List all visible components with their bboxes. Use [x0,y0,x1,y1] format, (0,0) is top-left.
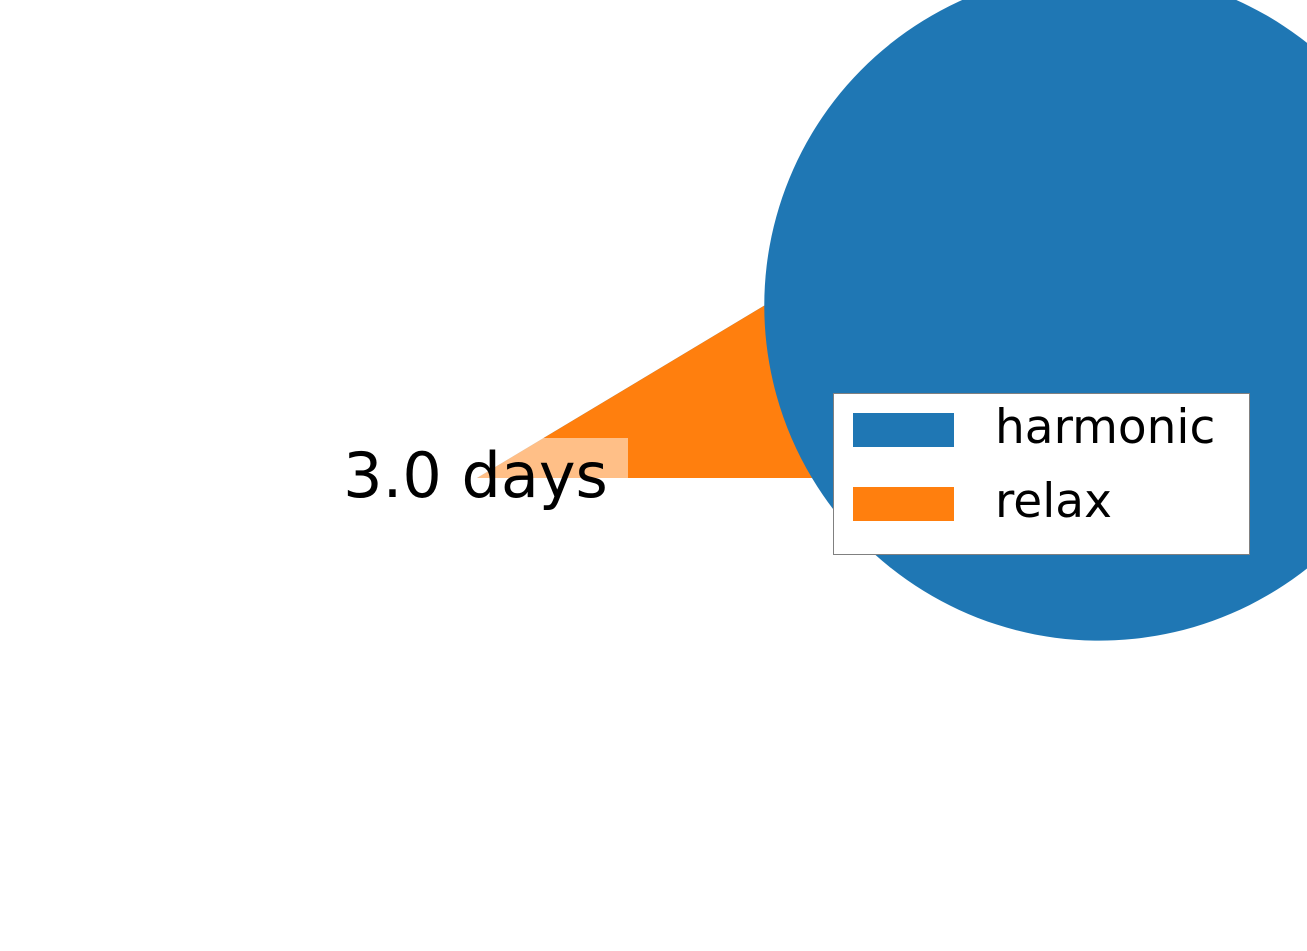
legend-label-harmonic: harmonic [995,404,1215,451]
legend-item-harmonic[interactable]: harmonic [853,406,1215,453]
legend-swatch-relax [853,487,954,521]
legend-swatch-harmonic [853,413,954,447]
legend-item-relax[interactable]: relax [853,480,1112,527]
legend-label-relax: relax [995,478,1112,525]
figure-canvas: 3.0 days harmonic relax [0,0,1307,951]
pie-slice-label-harmonic-text: 3.0 days [343,445,608,507]
chart-legend: harmonic relax [833,393,1250,555]
pie-slice-label-harmonic: 3.0 days [323,438,628,515]
